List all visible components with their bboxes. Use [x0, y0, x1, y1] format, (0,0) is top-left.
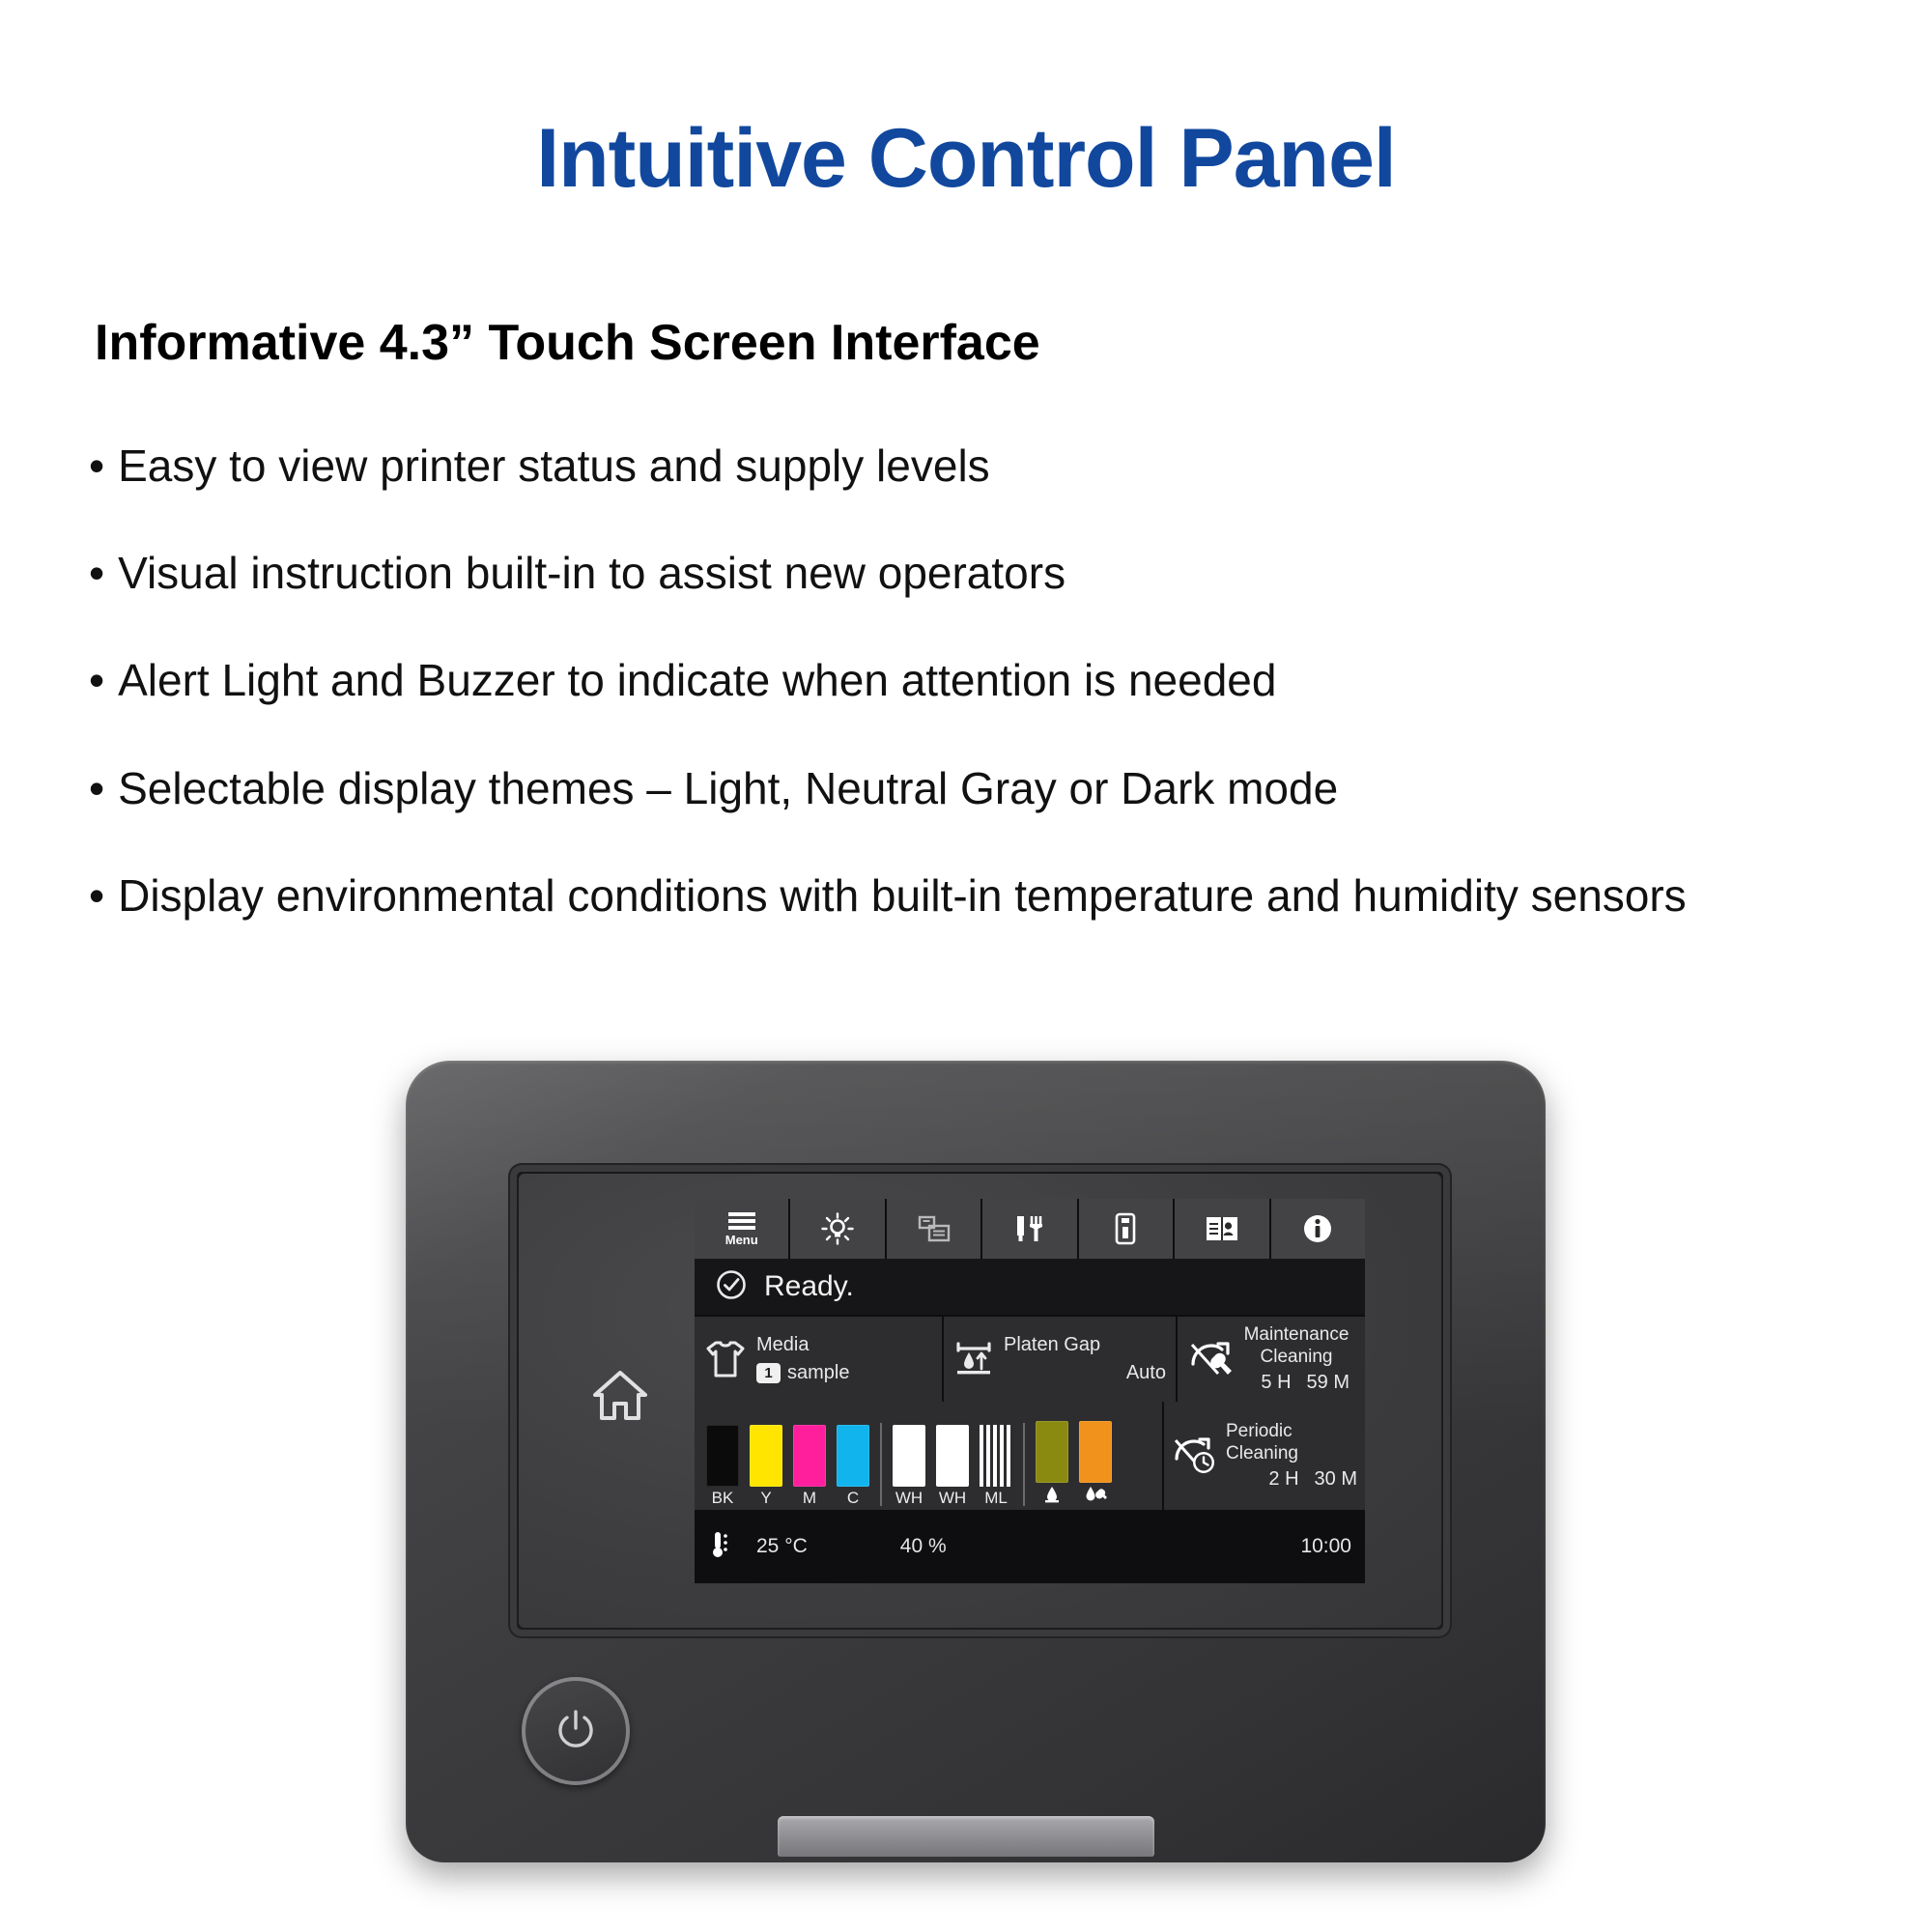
tab-maintenance[interactable]	[982, 1199, 1076, 1259]
bullet-text: Display environmental conditions with bu…	[118, 870, 1687, 921]
ink-cartridge[interactable]: WH	[934, 1425, 971, 1506]
tab-manual[interactable]	[1175, 1199, 1268, 1259]
bullet-text: Selectable display themes – Light, Neutr…	[118, 763, 1338, 813]
periodic-title-line1: Periodic	[1226, 1421, 1293, 1443]
manual-book-icon	[1206, 1215, 1238, 1242]
job-queue-icon	[918, 1215, 951, 1242]
ink-cartridge[interactable]: C	[835, 1425, 871, 1506]
feature-bullet-list: •Easy to view printer status and supply …	[89, 440, 1886, 977]
list-item: •Display environmental conditions with b…	[89, 869, 1886, 923]
bullet-text: Visual instruction built-in to assist ne…	[118, 548, 1065, 598]
maintenance-text: Maintenance Cleaning 5 H 59 M	[1243, 1324, 1355, 1394]
tab-usb[interactable]	[1079, 1199, 1173, 1259]
periodic-title-line2: Cleaning	[1226, 1443, 1298, 1465]
maintenance-time: 5 H 59 M	[1261, 1372, 1350, 1394]
ink-cartridge[interactable]: BK	[704, 1425, 741, 1506]
platen-gap-icon	[953, 1340, 994, 1378]
home-icon[interactable]	[590, 1367, 650, 1425]
maintenance-title-line2: Cleaning	[1261, 1347, 1333, 1369]
tab-menu[interactable]: Menu	[695, 1199, 788, 1259]
ink-label: WH	[939, 1490, 966, 1506]
temperature-value: 25 °C	[756, 1535, 808, 1558]
toolbar: Menu	[695, 1199, 1365, 1259]
tab-menu-label: Menu	[725, 1234, 758, 1246]
info-row: Media 1 sample	[695, 1317, 1365, 1402]
light-bulb-icon	[821, 1212, 854, 1245]
maintenance-cleaning-icon	[1189, 1339, 1234, 1379]
ink-label: C	[847, 1490, 859, 1506]
list-item: •Easy to view printer status and supply …	[89, 440, 1886, 493]
cleaning-liquid-tank[interactable]	[1077, 1421, 1114, 1506]
periodic-cleaning-card[interactable]: Periodic Cleaning 2 H 30 M	[1164, 1402, 1365, 1510]
bullet-text: Alert Light and Buzzer to indicate when …	[118, 655, 1276, 705]
ink-cartridge[interactable]: M	[791, 1425, 828, 1506]
ink-bar-y	[750, 1425, 782, 1487]
tab-light[interactable]	[790, 1199, 884, 1259]
power-button[interactable]	[522, 1677, 630, 1785]
periodic-minutes: 30 M	[1315, 1468, 1357, 1491]
bullet-marker: •	[89, 440, 104, 491]
ink-bar-m	[793, 1425, 826, 1487]
status-message: Ready.	[764, 1270, 854, 1303]
tab-information[interactable]	[1271, 1199, 1365, 1259]
check-circle-icon	[716, 1269, 747, 1305]
ink-levels[interactable]: BK Y M C	[695, 1402, 1162, 1510]
thermometer-icon	[710, 1530, 731, 1564]
ink-bar-bk	[706, 1425, 739, 1487]
section-subtitle: Informative 4.3” Touch Screen Interface	[95, 314, 1040, 372]
cleaning-liquid-icon	[1084, 1486, 1107, 1506]
bullet-marker: •	[89, 548, 104, 598]
media-slot-badge: 1	[756, 1363, 781, 1383]
humidity-value: 40 %	[900, 1535, 947, 1558]
page-title: Intuitive Control Panel	[0, 111, 1932, 207]
printer-control-panel-device: Menu	[406, 1061, 1546, 1862]
periodic-hours: 2 H	[1268, 1468, 1298, 1491]
paper-tray	[778, 1816, 1154, 1857]
ink-cartridge[interactable]: WH	[891, 1425, 927, 1506]
ink-cartridge[interactable]: ML	[978, 1425, 1014, 1506]
platen-gap-value: Auto	[1004, 1362, 1166, 1384]
maintenance-minutes: 59 M	[1307, 1372, 1350, 1394]
media-card[interactable]: Media 1 sample	[695, 1317, 942, 1402]
maintenance-cleaning-card[interactable]: Maintenance Cleaning 5 H 59 M	[1178, 1317, 1365, 1402]
maintenance-hours: 5 H	[1261, 1372, 1291, 1394]
media-title: Media	[756, 1334, 932, 1356]
list-item: •Selectable display themes – Light, Neut…	[89, 762, 1886, 815]
ink-label: M	[803, 1490, 816, 1506]
maintenance-title-line1: Maintenance	[1244, 1324, 1350, 1347]
touch-screen-frame: Menu	[510, 1165, 1450, 1636]
tank-bar-cleaning	[1079, 1421, 1112, 1483]
ink-row: BK Y M C	[695, 1402, 1365, 1510]
media-card-body: Media 1 sample	[756, 1334, 932, 1384]
ink-group-divider	[880, 1423, 882, 1506]
environment-bar: 25 °C 40 % 10:00	[695, 1510, 1365, 1583]
list-item: •Visual instruction built-in to assist n…	[89, 547, 1886, 600]
ink-label: BK	[712, 1490, 734, 1506]
power-icon	[554, 1707, 598, 1756]
tab-job-queue[interactable]	[887, 1199, 980, 1259]
ink-bar-ml	[980, 1425, 1012, 1487]
usb-drive-icon	[1114, 1212, 1137, 1245]
platen-card-body: Platen Gap Auto	[1004, 1334, 1166, 1384]
ink-label: ML	[984, 1490, 1008, 1506]
clock-value: 10:00	[1300, 1535, 1351, 1558]
tshirt-icon	[704, 1339, 747, 1379]
list-item: •Alert Light and Buzzer to indicate when…	[89, 654, 1886, 707]
waste-ink-tank[interactable]	[1034, 1421, 1070, 1506]
platen-gap-title: Platen Gap	[1004, 1334, 1166, 1356]
bullet-text: Easy to view printer status and supply l…	[118, 440, 990, 491]
media-value-row: 1 sample	[756, 1362, 932, 1384]
bullet-marker: •	[89, 870, 104, 921]
periodic-cleaning-clock-icon	[1174, 1435, 1218, 1476]
periodic-time: 2 H 30 M	[1268, 1468, 1357, 1491]
information-icon	[1302, 1213, 1333, 1244]
ink-label: WH	[895, 1490, 923, 1506]
ink-bar-wh2	[936, 1425, 969, 1487]
waste-ink-drop-icon	[1042, 1486, 1062, 1506]
platen-gap-card[interactable]: Platen Gap Auto	[944, 1317, 1176, 1402]
ui-container: Menu	[695, 1199, 1365, 1583]
ink-cartridge[interactable]: Y	[748, 1425, 784, 1506]
periodic-text: Periodic Cleaning 2 H 30 M	[1226, 1421, 1357, 1491]
ink-bar-wh1	[893, 1425, 925, 1487]
ink-label: Y	[760, 1490, 771, 1506]
menu-hamburger-icon	[727, 1211, 756, 1233]
status-bar: Ready.	[695, 1259, 1365, 1317]
bullet-marker: •	[89, 655, 104, 705]
maintenance-tools-icon	[1014, 1213, 1045, 1244]
tank-group-divider	[1023, 1423, 1025, 1506]
touch-screen[interactable]: Menu	[519, 1174, 1441, 1628]
slide-root: Intuitive Control Panel Informative 4.3”…	[0, 0, 1932, 1932]
ink-bar-c	[837, 1425, 869, 1487]
media-value: sample	[787, 1362, 849, 1384]
tank-bar-waste	[1036, 1421, 1068, 1483]
bullet-marker: •	[89, 763, 104, 813]
maintenance-wrap: Maintenance Cleaning 5 H 59 M	[1189, 1317, 1355, 1402]
